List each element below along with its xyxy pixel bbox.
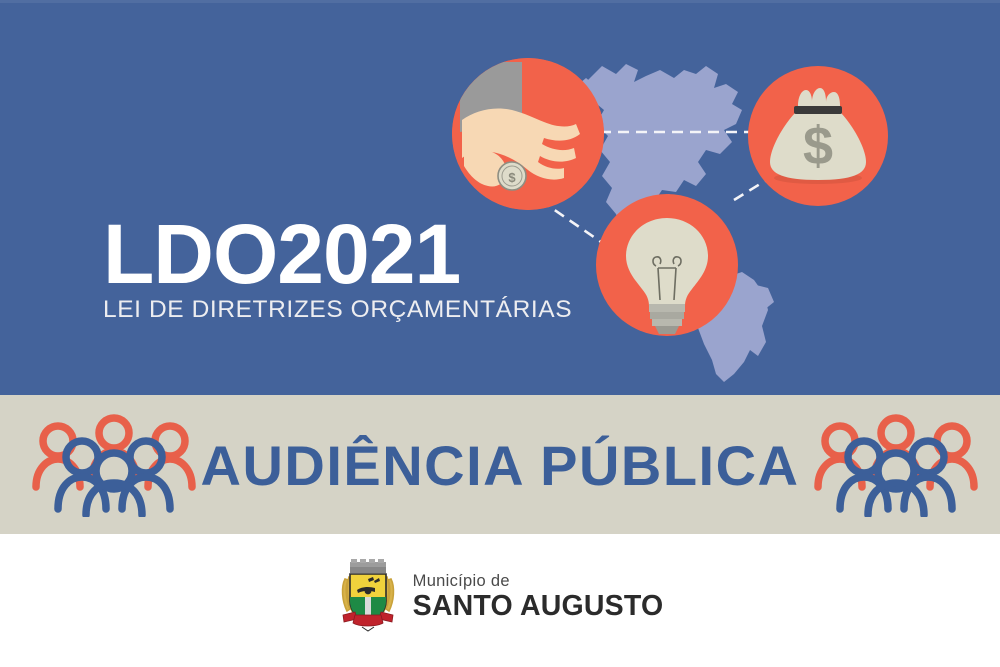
money-bag-icon: $ [748, 66, 888, 206]
people-group-icon-right [812, 413, 980, 517]
municipality-logo: Município de SANTO AUGUSTO [337, 557, 664, 637]
hero-title-block: LDO2021 LEI DE DIRETRIZES ORÇAMENTÁRIAS [103, 218, 573, 324]
coin-dollar-glyph: $ [508, 170, 516, 185]
bag-dollar-glyph: $ [803, 116, 833, 176]
municipality-name: SANTO AUGUSTO [413, 592, 664, 621]
page-title: LDO2021 [103, 218, 573, 290]
page-subtitle: LEI DE DIRETRIZES ORÇAMENTÁRIAS [103, 296, 573, 324]
people-group-icon-left [30, 413, 198, 517]
footer: Município de SANTO AUGUSTO [0, 534, 1000, 667]
band-title: AUDIÊNCIA PÚBLICA [175, 438, 826, 494]
poster: $ $ [0, 0, 1000, 667]
municipality-prefix: Município de [413, 573, 664, 590]
lightbulb-icon [596, 194, 738, 336]
hero-panel: $ $ [0, 0, 1000, 395]
municipality-text: Município de SANTO AUGUSTO [413, 573, 664, 621]
hand-dropping-coin-icon: $ [452, 58, 604, 210]
santo-augusto-coat-of-arms [337, 557, 399, 637]
audience-band: AUDIÊNCIA PÚBLICA [0, 395, 1000, 534]
